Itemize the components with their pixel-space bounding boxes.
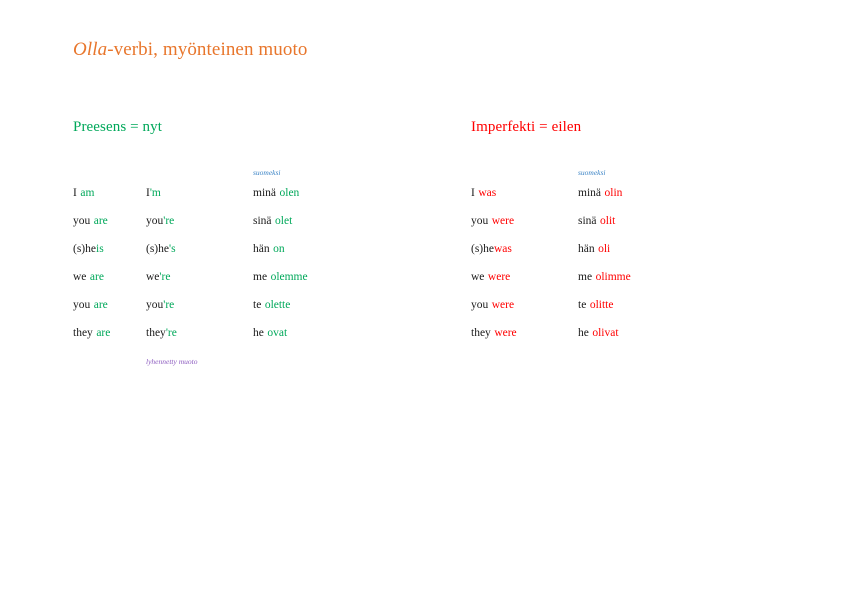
past-full-form-1: Iwas bbox=[471, 179, 578, 207]
present-finnish-4: meolemme bbox=[253, 263, 413, 291]
pronoun: I bbox=[73, 187, 77, 199]
present-finnish-3: hänon bbox=[253, 235, 413, 263]
annotation-row-present: suomeksi bbox=[73, 163, 413, 179]
fi-pronoun: minä bbox=[578, 187, 601, 199]
fi-verb: olit bbox=[600, 215, 615, 227]
short-pronoun: they bbox=[146, 327, 166, 339]
fi-verb: olen bbox=[280, 187, 300, 199]
short-pronoun: we bbox=[146, 271, 159, 283]
verb: are bbox=[94, 215, 108, 227]
fi-pronoun: sinä bbox=[253, 215, 272, 227]
pronoun: I bbox=[471, 187, 475, 199]
table-row: youare you're sinäolet bbox=[73, 207, 413, 235]
fi-pronoun: te bbox=[253, 299, 261, 311]
present-short-form-2: you're bbox=[146, 207, 253, 235]
short-pronoun: you bbox=[146, 299, 163, 311]
verb: are bbox=[96, 327, 110, 339]
short-pronoun: (s)he bbox=[146, 243, 169, 255]
verb: was bbox=[494, 243, 512, 255]
present-short-form-1: I'm bbox=[146, 179, 253, 207]
past-finnish-2: sinäolit bbox=[578, 207, 738, 235]
fi-pronoun: me bbox=[578, 271, 592, 283]
present-full-form-5: youare bbox=[73, 291, 146, 319]
past-full-form-3: (s)hewas bbox=[471, 235, 578, 263]
pronoun: they bbox=[73, 327, 93, 339]
table-row: Iwas minäolin bbox=[471, 179, 738, 207]
annotation-cell-suomeksi: suomeksi bbox=[253, 163, 413, 179]
fi-verb: olimme bbox=[596, 271, 631, 283]
verb: were bbox=[494, 327, 516, 339]
short-verb: 'm bbox=[150, 187, 161, 199]
fi-pronoun: he bbox=[578, 327, 589, 339]
verb: am bbox=[80, 187, 94, 199]
present-full-form-1: Iam bbox=[73, 179, 146, 207]
present-full-form-3: (s)heis bbox=[73, 235, 146, 263]
past-finnish-1: minäolin bbox=[578, 179, 738, 207]
fi-verb: olivat bbox=[592, 327, 618, 339]
present-finnish-1: minäolen bbox=[253, 179, 413, 207]
present-full-form-6: theyare bbox=[73, 319, 146, 347]
table-row: youwere teolitte bbox=[471, 291, 738, 319]
pronoun: they bbox=[471, 327, 491, 339]
short-verb: 're bbox=[166, 327, 177, 339]
verb: are bbox=[90, 271, 104, 283]
annotation-cell-suomeksi-past: suomeksi bbox=[578, 163, 738, 179]
fi-pronoun: te bbox=[578, 299, 586, 311]
past-finnish-6: heolivat bbox=[578, 319, 738, 347]
table-row: (s)heis (s)he's hänon bbox=[73, 235, 413, 263]
pronoun: you bbox=[471, 299, 488, 311]
present-finnish-6: heovat bbox=[253, 319, 413, 347]
table-row: wewere meolimme bbox=[471, 263, 738, 291]
fi-verb: olette bbox=[265, 299, 291, 311]
table-row: theywere heolivat bbox=[471, 319, 738, 347]
table-row: youwere sinäolit bbox=[471, 207, 738, 235]
verb: is bbox=[96, 243, 104, 255]
past-finnish-3: hänoli bbox=[578, 235, 738, 263]
fi-pronoun: sinä bbox=[578, 215, 597, 227]
pronoun: you bbox=[73, 215, 90, 227]
short-pronoun: you bbox=[146, 215, 163, 227]
fi-pronoun: he bbox=[253, 327, 264, 339]
past-full-form-6: theywere bbox=[471, 319, 578, 347]
past-finnish-4: meolimme bbox=[578, 263, 738, 291]
conjugation-block-past: suomeksi Iwas minäolin youwere sinäolit … bbox=[471, 163, 738, 347]
label-suomeksi-past: suomeksi bbox=[578, 168, 606, 177]
present-short-form-3: (s)he's bbox=[146, 235, 253, 263]
document-page: Olla-verbi, myönteinen muoto Preesens = … bbox=[0, 0, 842, 595]
page-title-rest: -verbi, myönteinen muoto bbox=[107, 39, 307, 60]
pronoun: we bbox=[471, 271, 484, 283]
fi-pronoun: minä bbox=[253, 187, 276, 199]
present-full-form-2: youare bbox=[73, 207, 146, 235]
past-full-form-4: wewere bbox=[471, 263, 578, 291]
verb: was bbox=[478, 187, 496, 199]
table-row: (s)hewas hänoli bbox=[471, 235, 738, 263]
fi-verb: on bbox=[273, 243, 285, 255]
verb: were bbox=[492, 299, 514, 311]
verb: were bbox=[488, 271, 510, 283]
pronoun: (s)he bbox=[73, 243, 96, 255]
page-title: Olla-verbi, myönteinen muoto bbox=[73, 38, 307, 62]
present-short-form-5: you're bbox=[146, 291, 253, 319]
fi-verb: olemme bbox=[271, 271, 308, 283]
section-header-present: Preesens = nyt bbox=[73, 117, 162, 137]
fi-pronoun: hän bbox=[253, 243, 270, 255]
short-verb: 's bbox=[169, 243, 176, 255]
section-header-past: Imperfekti = eilen bbox=[471, 117, 581, 137]
conjugation-block-present: suomeksi Iam I'm minäolen youare you're … bbox=[73, 163, 413, 375]
table-row: youare you're teolette bbox=[73, 291, 413, 319]
short-verb: 're bbox=[159, 271, 170, 283]
pronoun: you bbox=[73, 299, 90, 311]
present-finnish-5: teolette bbox=[253, 291, 413, 319]
conjugation-table-past: suomeksi Iwas minäolin youwere sinäolit … bbox=[471, 163, 738, 347]
verb: are bbox=[94, 299, 108, 311]
present-full-form-4: weare bbox=[73, 263, 146, 291]
footnote-cell-lyhennetty: lyhennetty muoto bbox=[146, 347, 253, 375]
pronoun: we bbox=[73, 271, 86, 283]
past-finnish-5: teolitte bbox=[578, 291, 738, 319]
pronoun: you bbox=[471, 215, 488, 227]
pronoun: (s)he bbox=[471, 243, 494, 255]
present-finnish-2: sinäolet bbox=[253, 207, 413, 235]
annotation-row-past: suomeksi bbox=[471, 163, 738, 179]
label-suomeksi-present: suomeksi bbox=[253, 168, 281, 177]
fi-verb: ovat bbox=[267, 327, 287, 339]
short-verb: 're bbox=[163, 299, 174, 311]
table-row: weare we're meolemme bbox=[73, 263, 413, 291]
label-lyhennetty-muoto: lyhennetty muoto bbox=[146, 357, 197, 366]
fi-pronoun: me bbox=[253, 271, 267, 283]
conjugation-table-present: suomeksi Iam I'm minäolen youare you're … bbox=[73, 163, 413, 375]
footnote-cell-empty bbox=[73, 347, 146, 375]
annotation-cell-empty-3 bbox=[471, 163, 578, 179]
table-row: Iam I'm minäolen bbox=[73, 179, 413, 207]
verb: were bbox=[492, 215, 514, 227]
table-row: theyare they're heovat bbox=[73, 319, 413, 347]
fi-verb: olin bbox=[605, 187, 623, 199]
fi-verb: olet bbox=[275, 215, 292, 227]
page-title-verb: Olla bbox=[73, 39, 107, 60]
fi-verb: oli bbox=[598, 243, 610, 255]
footnote-row-present: lyhennetty muoto bbox=[73, 347, 413, 375]
present-short-form-4: we're bbox=[146, 263, 253, 291]
past-full-form-2: youwere bbox=[471, 207, 578, 235]
footnote-cell-empty-2 bbox=[253, 347, 413, 375]
fi-pronoun: hän bbox=[578, 243, 595, 255]
past-full-form-5: youwere bbox=[471, 291, 578, 319]
annotation-cell-empty-1 bbox=[73, 163, 146, 179]
annotation-cell-empty-2 bbox=[146, 163, 253, 179]
present-short-form-6: they're bbox=[146, 319, 253, 347]
fi-verb: olitte bbox=[590, 299, 614, 311]
short-verb: 're bbox=[163, 215, 174, 227]
